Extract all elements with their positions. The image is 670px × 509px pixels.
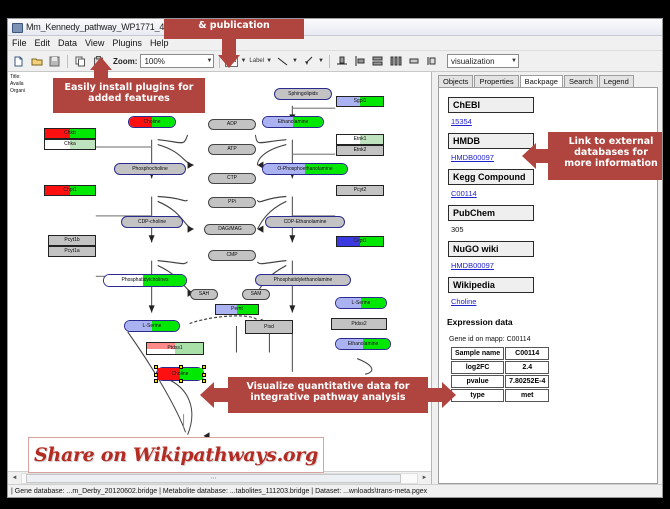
chevron-down-icon[interactable]: ▼ xyxy=(292,58,298,64)
metabolite-node[interactable]: CDP-Ethanolamine xyxy=(265,216,345,228)
table-row: log2FC2.4 xyxy=(451,361,549,374)
database-value-pubchem: 305 xyxy=(451,225,657,234)
callout-plugins-line1: Easily install plugins for xyxy=(53,82,205,93)
node-label: Pcyt1b xyxy=(64,238,79,243)
callout-link-line1: Link to external xyxy=(548,136,663,147)
selection-handle[interactable] xyxy=(179,379,183,383)
expression-key: Sample name xyxy=(451,347,504,360)
node-label: CTP xyxy=(227,176,237,181)
zoom-label: Zoom: xyxy=(113,57,137,66)
table-row: typemet xyxy=(451,389,549,402)
metabolite-node[interactable]: L-Serine xyxy=(335,297,387,309)
callout-link-line3: more information xyxy=(548,158,663,169)
database-link-nugo-wiki[interactable]: HMDB00097 xyxy=(451,261,657,270)
open-folder-icon[interactable] xyxy=(29,54,44,69)
expression-key: pvalue xyxy=(451,375,504,388)
gene-node[interactable]: Chka xyxy=(44,139,96,150)
callout-draw-arrow xyxy=(218,55,240,68)
database-link-kegg-compound[interactable]: C00114 xyxy=(451,189,657,198)
node-label: Etnk2 xyxy=(354,148,367,153)
menu-item-view[interactable]: View xyxy=(85,38,104,48)
callout-draw: Draw for presentation & publication xyxy=(164,18,304,39)
database-xref-list: ChEBI15354HMDBHMDB00097Kegg CompoundC001… xyxy=(448,97,657,306)
node-label: Chka xyxy=(64,142,76,147)
tab-search[interactable]: Search xyxy=(564,75,598,87)
expression-key: log2FC xyxy=(451,361,504,374)
title-bar: Mm_Kennedy_pathway_WP1771_45176.gpml xyxy=(8,19,662,36)
chevron-down-icon[interactable]: ▼ xyxy=(240,58,246,64)
metabolite-node[interactable]: O-Phosphoethanolamine xyxy=(262,163,348,175)
node-label: Choline xyxy=(144,120,161,125)
node-label: Pcyt1a xyxy=(64,249,79,254)
chevron-right-icon[interactable]: ► xyxy=(418,472,431,484)
node-label: Choline xyxy=(172,372,189,377)
database-link-wikipedia[interactable]: Choline xyxy=(451,297,657,306)
gene-node[interactable]: Cept1 xyxy=(336,236,384,247)
chevron-left-icon[interactable]: ◄ xyxy=(8,472,21,484)
node-label: L-Serine xyxy=(143,324,162,329)
node-label: Ethanolamine xyxy=(278,120,309,125)
node-label: PPi xyxy=(228,200,236,205)
menu-item-data[interactable]: Data xyxy=(58,38,77,48)
node-label: O-Phosphoethanolamine xyxy=(277,167,332,172)
metabolite-node[interactable]: Choline xyxy=(128,116,176,128)
callout-visualize: Visualize quantitative data for integrat… xyxy=(228,377,428,413)
zoom-value: 100% xyxy=(144,57,164,66)
node-label: Etnk1 xyxy=(354,137,367,142)
node-label: SAH xyxy=(199,292,209,297)
interaction-tool-icon xyxy=(301,54,316,69)
pathvisio-window: Mm_Kennedy_pathway_WP1771_45176.gpml Fil… xyxy=(7,18,663,498)
node-label: Phosphatidylcholines xyxy=(122,278,169,283)
node-label: Pemt xyxy=(231,307,243,312)
label-tool[interactable]: Label ▼ xyxy=(249,58,272,64)
callout-plugins: Easily install plugins for added feature… xyxy=(53,78,205,113)
node-label: SAM xyxy=(251,292,262,297)
callout-draw-line2: & publication xyxy=(164,20,304,31)
chevron-down-icon[interactable]: ▼ xyxy=(511,58,517,64)
gene-node[interactable]: Chkb xyxy=(44,128,96,139)
side-panel-tabs: ObjectsPropertiesBackpageSearchLegend xyxy=(432,72,662,87)
node-label: Chpt1 xyxy=(63,188,76,193)
menu-item-edit[interactable]: Edit xyxy=(35,38,51,48)
metabolite-node[interactable]: Sphingolipids xyxy=(274,88,332,100)
expression-data-table: Sample nameC00114log2FC2.4pvalue7.80252E… xyxy=(450,346,550,403)
gene-node[interactable]: Pcyt1b xyxy=(48,235,96,246)
tab-legend[interactable]: Legend xyxy=(599,75,634,87)
selection-handle[interactable] xyxy=(179,365,183,369)
gene-node[interactable]: Sgpl1 xyxy=(336,96,384,107)
chevron-down-icon[interactable]: ▼ xyxy=(266,58,272,64)
expression-data-heading: Expression data xyxy=(447,317,657,327)
gene-node[interactable]: Pisd xyxy=(245,320,293,334)
selection-handle[interactable] xyxy=(202,373,206,377)
hscrollbar-track[interactable]: ⋯ xyxy=(21,473,418,484)
database-header-chebi: ChEBI xyxy=(448,97,534,113)
metabolite-node[interactable]: Phosphatidylethanolamine xyxy=(255,274,351,286)
node-label: Pisd xyxy=(264,325,274,330)
selection-handle[interactable] xyxy=(154,365,158,369)
database-header-kegg-compound: Kegg Compound xyxy=(448,169,534,185)
node-label: ATP xyxy=(227,147,236,152)
node-label: DAG/MAG xyxy=(218,227,242,232)
selection-handle[interactable] xyxy=(202,365,206,369)
node-label: Sgpl1 xyxy=(354,99,367,104)
gene-node[interactable]: Pcyt1a xyxy=(48,246,96,257)
callout-draw-stem xyxy=(222,38,236,56)
align-top-icon[interactable] xyxy=(335,54,350,69)
distribute-horizontal-icon[interactable] xyxy=(389,54,404,69)
node-label: Phosphocholine xyxy=(132,167,168,172)
gene-node[interactable]: Ptdss2 xyxy=(331,318,387,330)
menu-item-help[interactable]: Help xyxy=(150,38,169,48)
share-banner-text: Share on Wikipathways.org xyxy=(34,444,318,466)
status-text: | Gene database: ...m_Derby_20120602.bri… xyxy=(11,488,427,495)
callout-visualize-arrow-right xyxy=(442,382,456,408)
visualization-combobox[interactable]: visualization ▼ xyxy=(447,54,519,68)
copy-icon[interactable] xyxy=(73,54,88,69)
metabolite-node[interactable]: L-Serine xyxy=(124,320,180,332)
database-header-nugo-wiki: NuGO wiki xyxy=(448,241,534,257)
node-label: CDP-Ethanolamine xyxy=(284,220,327,225)
toolbar-separator xyxy=(67,55,68,68)
node-label: Chkb xyxy=(64,131,76,136)
gene-node[interactable]: Ptdss1 xyxy=(146,342,204,355)
node-label: Ptdss1 xyxy=(167,346,182,351)
zoom-combobox[interactable]: 100% ▼ xyxy=(140,54,214,68)
cofactor-node[interactable]: ADP xyxy=(208,119,256,130)
gene-node[interactable]: Chpt1 xyxy=(44,185,96,196)
chevron-down-icon[interactable]: ▼ xyxy=(206,58,212,64)
visualization-value: visualization xyxy=(451,57,495,66)
cofactor-node[interactable]: ATP xyxy=(208,144,256,155)
callout-link-line2: databases for xyxy=(548,147,663,158)
metabolite-node[interactable]: CDP-choline xyxy=(121,216,183,228)
node-label: Ptdss2 xyxy=(351,322,366,327)
tab-objects[interactable]: Objects xyxy=(438,75,473,87)
table-row: Sample nameC00114 xyxy=(451,347,549,360)
expression-value: 2.4 xyxy=(505,361,549,374)
cofactor-node[interactable]: DAG/MAG xyxy=(204,224,256,235)
selection-handle[interactable] xyxy=(154,373,158,377)
expression-value: met xyxy=(505,389,549,402)
menu-item-file[interactable]: File xyxy=(12,38,27,48)
label-tool-label: Label xyxy=(249,58,264,64)
metabolite-node[interactable]: Ethanolamine xyxy=(262,116,324,128)
toolbar-separator xyxy=(329,55,330,68)
chevron-down-icon[interactable]: ▼ xyxy=(318,58,324,64)
node-label: Phosphatidylethanolamine xyxy=(274,278,333,283)
node-label: Ethanolamine xyxy=(348,342,379,347)
selection-handle[interactable] xyxy=(154,379,158,383)
hscrollbar-thumb[interactable]: ⋯ xyxy=(26,474,401,483)
common-height-icon[interactable] xyxy=(425,54,440,69)
interaction-tool[interactable]: ▼ xyxy=(301,54,324,69)
node-label: Cept1 xyxy=(353,239,366,244)
cofactor-node[interactable]: SAH xyxy=(190,289,218,300)
database-header-wikipedia: Wikipedia xyxy=(448,277,534,293)
gene-node[interactable]: Pcyt2 xyxy=(336,185,384,196)
new-document-icon[interactable] xyxy=(11,54,26,69)
metabolite-node[interactable]: Phosphocholine xyxy=(114,163,186,175)
gene-id-line: Gene id on mapp: C00114 xyxy=(449,336,657,343)
metabolite-node[interactable]: Phosphatidylcholines xyxy=(103,274,187,287)
expression-value: C00114 xyxy=(505,347,549,360)
table-row: pvalue7.80252E-4 xyxy=(451,375,549,388)
callout-plugins-line2: added features xyxy=(53,93,205,104)
callout-visualize-line1: Visualize quantitative data for xyxy=(228,381,428,392)
node-label: CMP xyxy=(226,253,237,258)
callout-visualize-stem-right xyxy=(426,388,442,402)
callout-link-arrow xyxy=(522,143,536,169)
node-label: L-Serine xyxy=(352,301,371,306)
share-banner: Share on Wikipathways.org xyxy=(28,437,324,473)
line-tool[interactable]: ▼ xyxy=(275,54,298,69)
gene-node[interactable]: Etnk2 xyxy=(336,145,384,156)
node-label: Sphingolipids xyxy=(288,92,318,97)
cofactor-node[interactable]: CMP xyxy=(208,250,256,261)
expression-value: 7.80252E-4 xyxy=(505,375,549,388)
node-label: Pcyt2 xyxy=(354,188,367,193)
expression-key: type xyxy=(451,389,504,402)
app-icon xyxy=(12,22,22,32)
callout-visualize-line2: integrative pathway analysis xyxy=(228,392,428,403)
node-label: ADP xyxy=(227,122,237,127)
cofactor-node[interactable]: SAM xyxy=(242,289,270,300)
common-width-icon[interactable] xyxy=(407,54,422,69)
gene-node[interactable]: Pemt xyxy=(215,304,259,315)
line-tool-icon xyxy=(275,54,290,69)
metabolite-node[interactable]: Choline xyxy=(156,367,204,381)
cofactor-node[interactable]: PPi xyxy=(208,197,256,208)
cofactor-node[interactable]: CTP xyxy=(208,173,256,184)
callout-plugins-arrow xyxy=(90,57,112,70)
save-disk-icon[interactable] xyxy=(47,54,62,69)
gene-node[interactable]: Etnk1 xyxy=(336,134,384,145)
callout-link: Link to external databases for more info… xyxy=(548,132,663,180)
metabolite-node[interactable]: Ethanolamine xyxy=(335,338,391,350)
pathway-canvas-panel: Title: Availa Organi xyxy=(8,72,432,484)
menu-item-plugins[interactable]: Plugins xyxy=(112,38,142,48)
align-left-icon[interactable] xyxy=(353,54,368,69)
database-header-pubchem: PubChem xyxy=(448,205,534,221)
tab-properties[interactable]: Properties xyxy=(474,75,518,87)
stack-vertical-icon[interactable] xyxy=(371,54,386,69)
callout-visualize-arrow-left xyxy=(200,382,214,408)
status-bar: | Gene database: ...m_Derby_20120602.bri… xyxy=(8,484,662,497)
node-label: CDP-choline xyxy=(138,220,166,225)
menu-bar: File Edit Data View Plugins Help xyxy=(8,36,662,51)
database-link-chebi[interactable]: 15354 xyxy=(451,117,657,126)
